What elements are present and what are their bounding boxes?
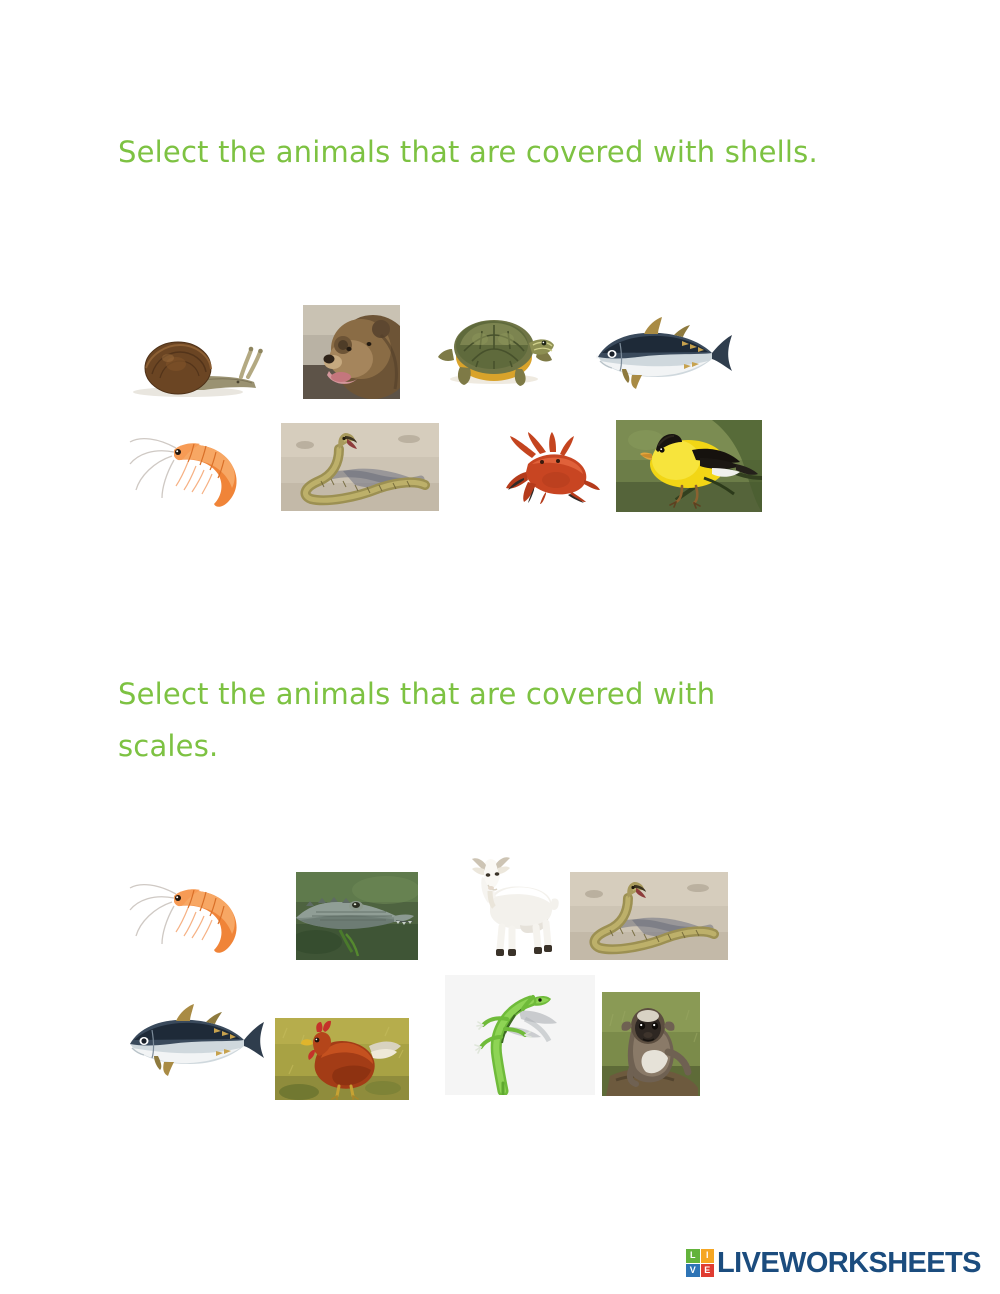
logo-cell-i: I: [701, 1249, 715, 1263]
tuna-illustration: [118, 1000, 266, 1078]
tuna-illustration: [586, 313, 734, 391]
goat-illustration: [464, 855, 562, 961]
liveworksheets-logo[interactable]: L I V E LIVEWORKSHEETS: [686, 1246, 981, 1280]
goldfinch-illustration: [616, 420, 762, 512]
option-monkey[interactable]: [602, 992, 700, 1096]
bear-illustration: [303, 305, 400, 399]
option-tuna-2[interactable]: [118, 1000, 266, 1078]
option-snail[interactable]: [118, 320, 270, 402]
option-goldfinch[interactable]: [616, 420, 762, 512]
turtle-illustration: [430, 305, 556, 387]
logo-cell-e: E: [701, 1264, 715, 1278]
option-lizard[interactable]: [445, 975, 595, 1095]
option-turtle[interactable]: [430, 305, 556, 387]
monkey-illustration: [602, 992, 700, 1096]
crab-illustration: [498, 428, 602, 504]
option-shrimp-2[interactable]: [118, 868, 270, 956]
crocodile-illustration: [296, 872, 418, 960]
lizard-illustration: [445, 975, 595, 1095]
option-bear[interactable]: [303, 305, 400, 399]
option-chicken[interactable]: [275, 1018, 409, 1100]
question-2-heading: Select the animals that are covered with…: [118, 668, 818, 772]
snail-illustration: [118, 320, 270, 402]
option-crab[interactable]: [498, 428, 602, 504]
worksheet-page: Select the animals that are covered with…: [0, 0, 1000, 1294]
logo-cell-l: L: [686, 1249, 700, 1263]
option-snake-2[interactable]: [570, 872, 728, 960]
snake-illustration: [281, 423, 439, 511]
option-shrimp[interactable]: [118, 422, 270, 510]
chicken-illustration: [275, 1018, 409, 1100]
liveworksheets-logo-mark: L I V E: [686, 1249, 714, 1277]
snake-illustration: [570, 872, 728, 960]
option-snake[interactable]: [281, 423, 439, 511]
shrimp-illustration: [118, 868, 270, 956]
option-crocodile[interactable]: [296, 872, 418, 960]
option-goat[interactable]: [464, 855, 562, 961]
shrimp-illustration: [118, 422, 270, 510]
question-1-heading: Select the animals that are covered with…: [118, 126, 818, 178]
liveworksheets-wordmark: LIVEWORKSHEETS: [717, 1247, 981, 1280]
logo-cell-v: V: [686, 1264, 700, 1278]
option-tuna[interactable]: [586, 313, 734, 391]
